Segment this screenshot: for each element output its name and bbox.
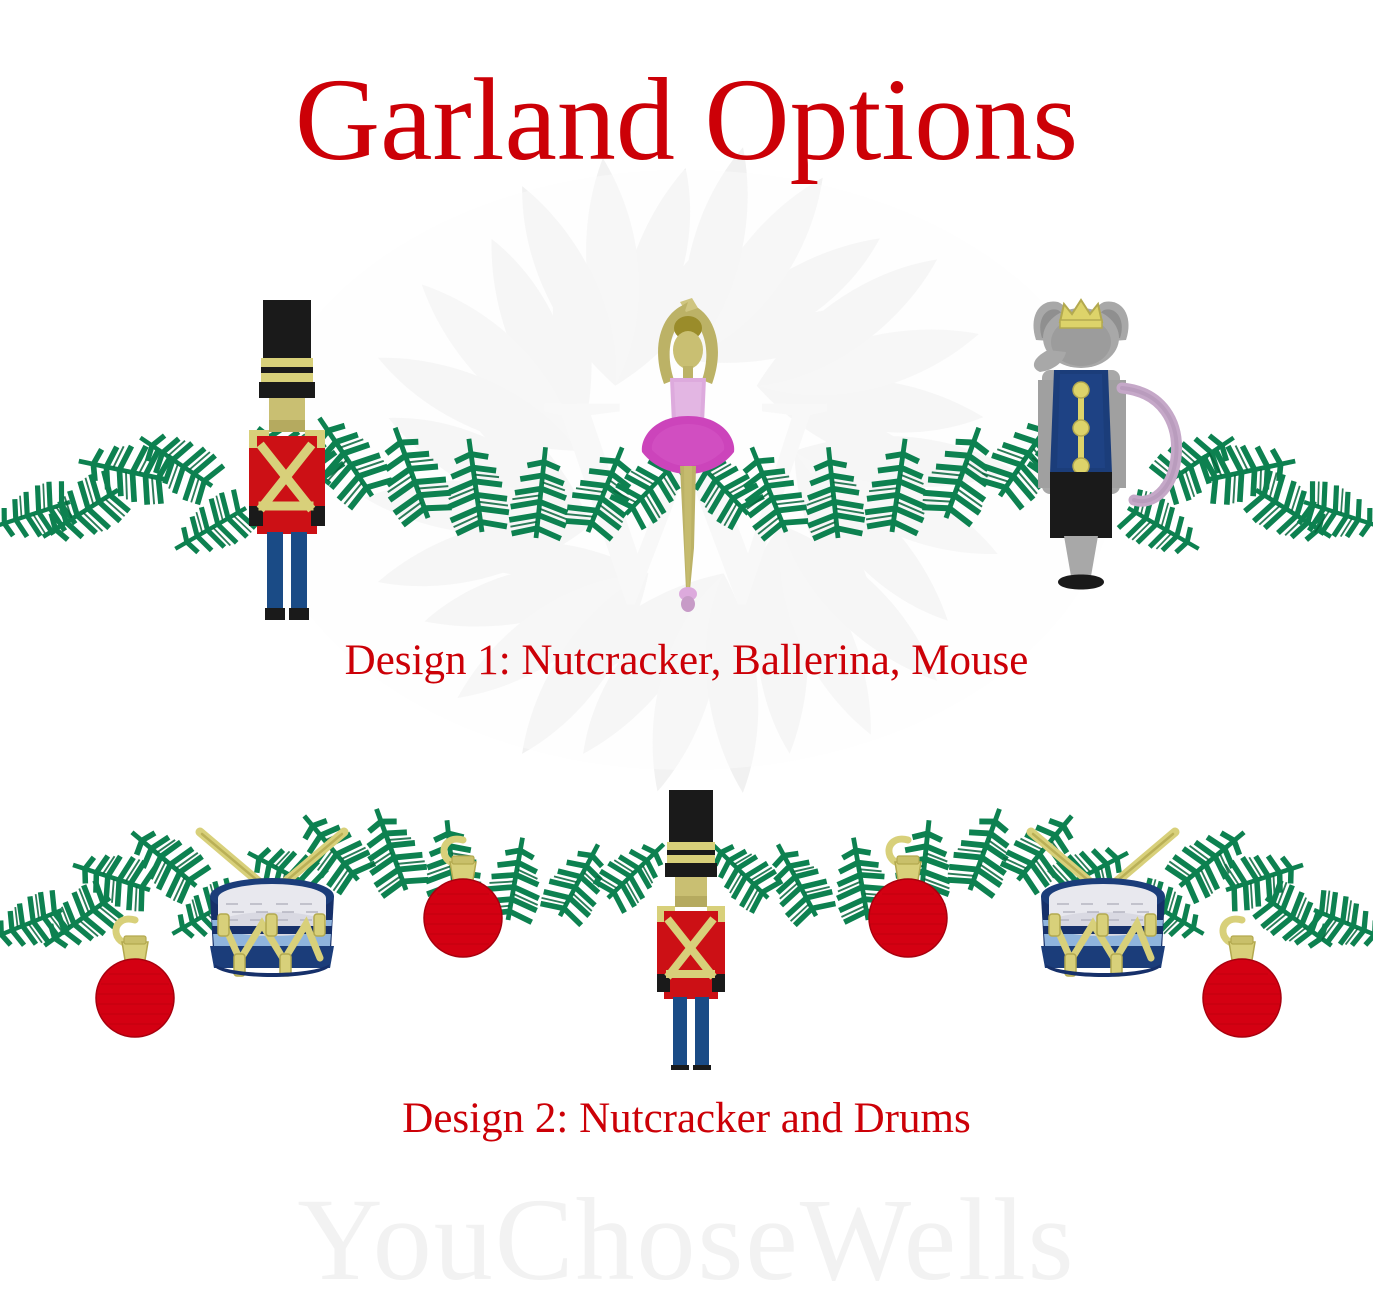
design-2-artwork	[0, 770, 1373, 1070]
ornament-ball-icon	[1203, 919, 1281, 1037]
design-1-artwork	[0, 280, 1373, 620]
nutcracker-icon	[249, 300, 325, 620]
watermark-text: YouChoseWells	[0, 1172, 1373, 1300]
embroidery-design-preview-page: W Garland Options	[0, 0, 1373, 1300]
mouse-king-icon	[1033, 300, 1176, 590]
page-title: Garland Options	[0, 58, 1373, 182]
nutcracker-icon	[657, 790, 725, 1070]
drum-icon	[200, 832, 344, 977]
design-2-caption: Design 2: Nutcracker and Drums	[0, 1094, 1373, 1143]
ornament-ball-icon	[424, 839, 502, 957]
ballerina-icon	[642, 298, 734, 612]
ornament-ball-icon	[96, 919, 174, 1037]
drum-icon	[1031, 832, 1175, 977]
design-1-caption: Design 1: Nutcracker, Ballerina, Mouse	[0, 636, 1373, 685]
